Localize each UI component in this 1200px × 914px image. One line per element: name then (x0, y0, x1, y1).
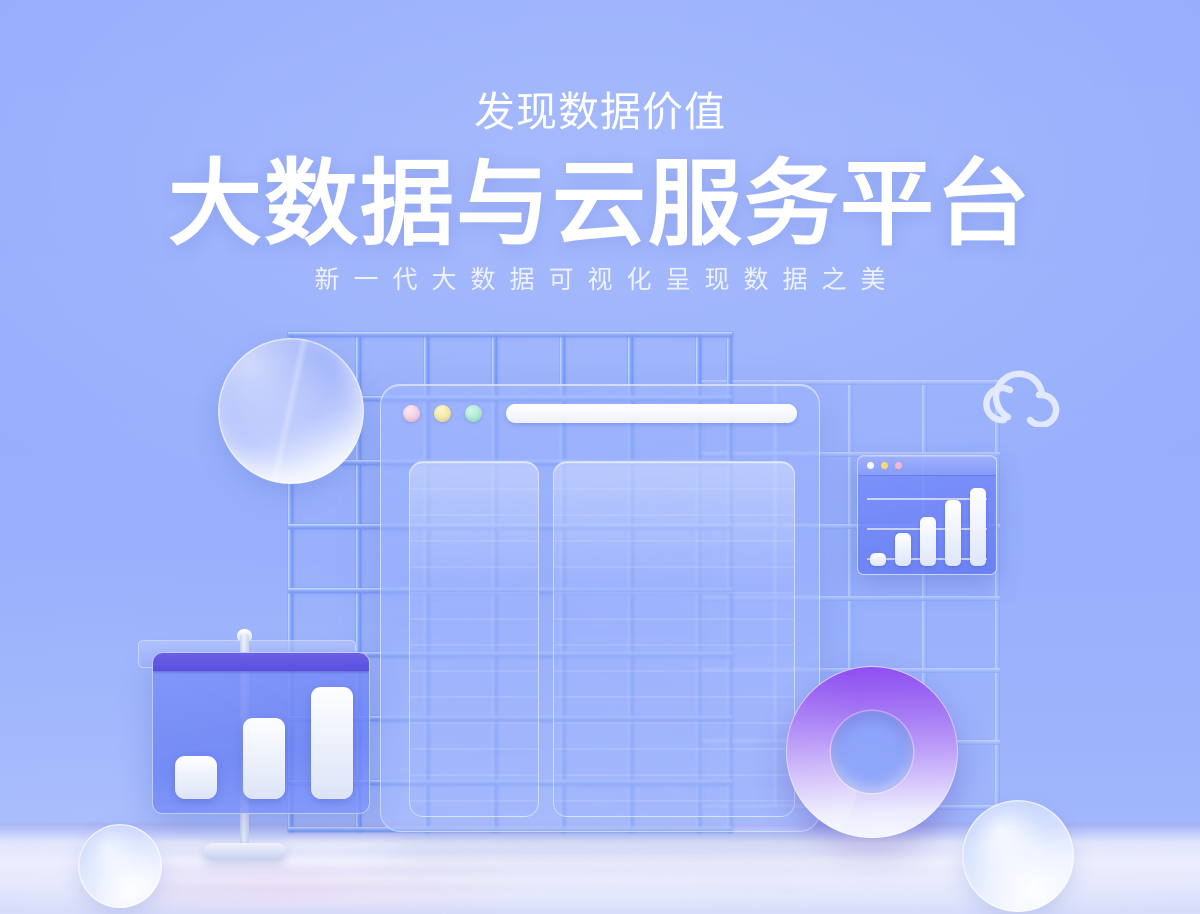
glass-disc (218, 338, 364, 484)
stand-base (204, 843, 286, 860)
kicker-text: 发现数据价值 (0, 92, 1200, 133)
mint-dot[interactable] (465, 405, 482, 422)
chart-bar (311, 687, 353, 799)
glass-sphere-small (78, 824, 162, 908)
main-browser-mockup[interactable] (380, 384, 820, 832)
tagline-text: 新一代大数据可视化呈现数据之美 (0, 268, 1200, 293)
mini-chart-plot-area (858, 476, 996, 574)
browser-left-pane[interactable] (409, 461, 539, 817)
hero-copy: 发现数据价值 大数据与云服务平台 新一代大数据可视化呈现数据之美 (0, 0, 1200, 293)
page-title: 大数据与云服务平台 (0, 155, 1200, 254)
chart-bar (920, 517, 936, 566)
chart-bar (970, 488, 986, 566)
browser-titlebar (381, 385, 819, 441)
glass-sphere-large (962, 800, 1074, 912)
mini-chart-window[interactable] (857, 455, 997, 575)
mini-chart-titlebar (858, 456, 996, 476)
chart-bar (945, 500, 961, 566)
pink-dot[interactable] (403, 405, 420, 422)
mini-chart-bars (870, 484, 986, 566)
white-dot[interactable] (867, 462, 874, 469)
bar-chart-panel[interactable] (152, 652, 370, 814)
chart-bar (870, 553, 886, 566)
pink-dot[interactable] (895, 462, 902, 469)
gradient-torus (786, 666, 958, 838)
chart-bar (895, 533, 911, 566)
cloud-outline-icon (978, 365, 1062, 427)
url-input[interactable] (506, 404, 797, 423)
hero-banner: 发现数据价值 大数据与云服务平台 新一代大数据可视化呈现数据之美 (0, 0, 1200, 914)
chart-bar (243, 718, 285, 799)
browser-right-pane[interactable] (553, 461, 795, 817)
yellow-dot[interactable] (434, 405, 451, 422)
yellow-dot[interactable] (881, 462, 888, 469)
panel-chart-bars (175, 687, 353, 799)
panel-header-bar (153, 653, 369, 671)
chart-bar (175, 756, 217, 799)
